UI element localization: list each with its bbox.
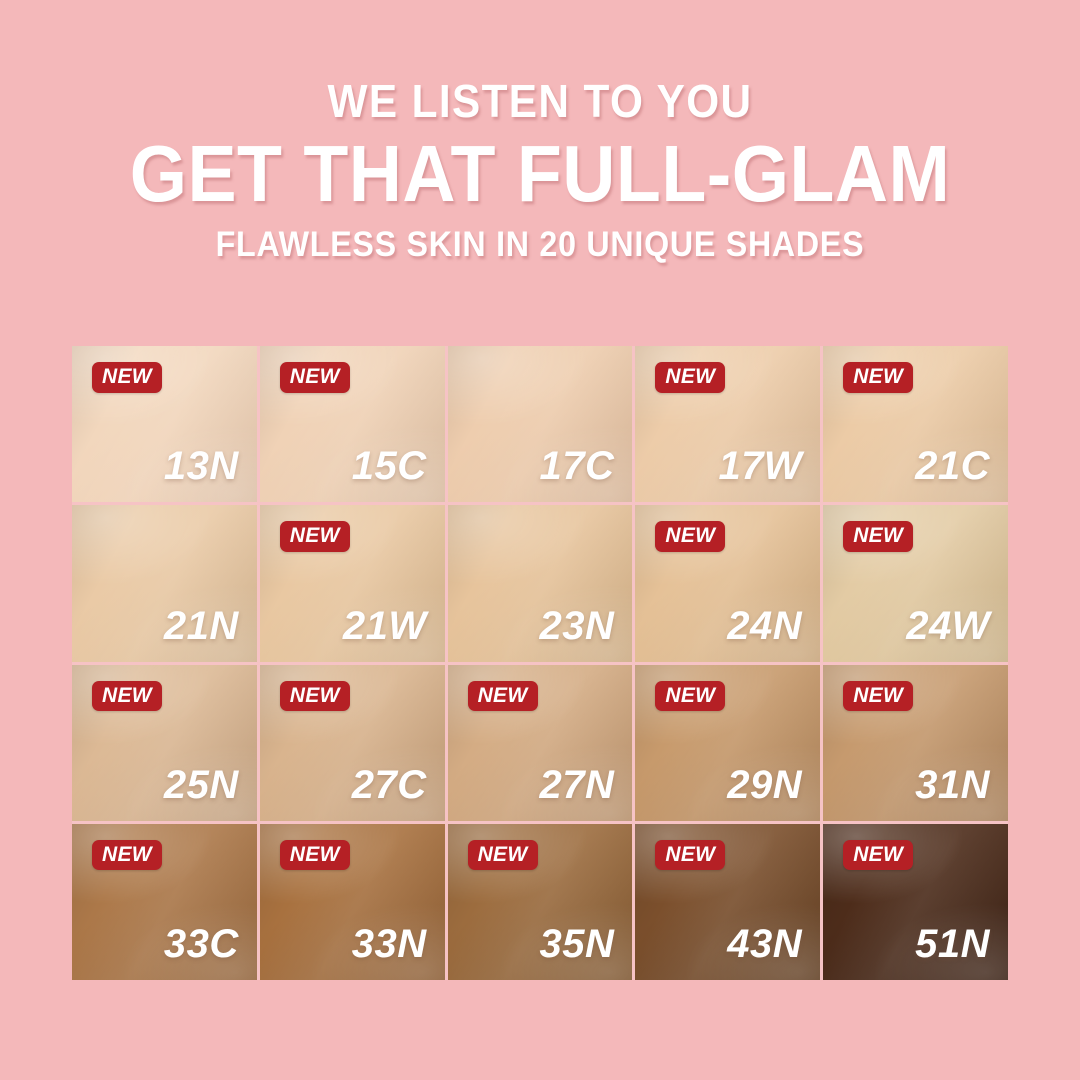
shade-swatch-21c[interactable]: NEW21C (823, 346, 1008, 502)
new-badge: NEW (655, 521, 725, 552)
shade-code-label: 31N (915, 765, 990, 805)
shade-swatch-25n[interactable]: NEW25N (72, 665, 257, 821)
shade-code-label: 13N (164, 446, 239, 486)
shade-swatch-grid: NEW13NNEW15C17CNEW17WNEW21C21NNEW21W23NN… (72, 346, 1008, 980)
shade-code-label: 29N (727, 765, 802, 805)
shade-swatch-51n[interactable]: NEW51N (823, 824, 1008, 980)
new-badge: NEW (280, 681, 350, 712)
shade-code-label: 21N (164, 606, 239, 646)
shade-swatch-13n[interactable]: NEW13N (72, 346, 257, 502)
new-badge: NEW (468, 681, 538, 712)
shade-code-label: 27N (540, 765, 615, 805)
shade-swatch-43n[interactable]: NEW43N (635, 824, 820, 980)
shade-code-label: 24N (727, 606, 802, 646)
shade-swatch-17w[interactable]: NEW17W (635, 346, 820, 502)
headline-eyebrow: WE LISTEN TO YOU (43, 78, 1037, 125)
headline-main: GET THAT FULL-GLAM (43, 133, 1037, 215)
new-badge: NEW (92, 681, 162, 712)
shade-code-label: 35N (540, 924, 615, 964)
new-badge: NEW (92, 840, 162, 871)
shade-swatch-33c[interactable]: NEW33C (72, 824, 257, 980)
new-badge: NEW (843, 681, 913, 712)
shade-swatch-17c[interactable]: 17C (448, 346, 633, 502)
new-badge: NEW (655, 840, 725, 871)
shade-swatch-21n[interactable]: 21N (72, 505, 257, 661)
shade-swatch-27c[interactable]: NEW27C (260, 665, 445, 821)
shade-code-label: 23N (540, 606, 615, 646)
shade-code-label: 24W (906, 606, 990, 646)
headline-block: WE LISTEN TO YOU GET THAT FULL-GLAM FLAW… (0, 78, 1080, 262)
shade-swatch-35n[interactable]: NEW35N (448, 824, 633, 980)
shade-swatch-33n[interactable]: NEW33N (260, 824, 445, 980)
shade-swatch-15c[interactable]: NEW15C (260, 346, 445, 502)
shade-code-label: 21W (343, 606, 427, 646)
new-badge: NEW (655, 362, 725, 393)
shade-code-label: 43N (727, 924, 802, 964)
shade-code-label: 33C (164, 924, 239, 964)
new-badge: NEW (92, 362, 162, 393)
new-badge: NEW (655, 681, 725, 712)
shade-code-label: 17W (718, 446, 802, 486)
new-badge: NEW (843, 840, 913, 871)
shade-code-label: 17C (540, 446, 615, 486)
shade-code-label: 21C (915, 446, 990, 486)
new-badge: NEW (280, 840, 350, 871)
shade-swatch-27n[interactable]: NEW27N (448, 665, 633, 821)
shade-code-label: 33N (352, 924, 427, 964)
new-badge: NEW (843, 362, 913, 393)
shade-swatch-24w[interactable]: NEW24W (823, 505, 1008, 661)
new-badge: NEW (468, 840, 538, 871)
new-badge: NEW (280, 362, 350, 393)
shade-swatch-23n[interactable]: 23N (448, 505, 633, 661)
poster-canvas: WE LISTEN TO YOU GET THAT FULL-GLAM FLAW… (0, 0, 1080, 1080)
headline-sub: FLAWLESS SKIN IN 20 UNIQUE SHADES (43, 227, 1037, 263)
shade-code-label: 15C (352, 446, 427, 486)
shade-swatch-31n[interactable]: NEW31N (823, 665, 1008, 821)
shade-code-label: 27C (352, 765, 427, 805)
shade-swatch-21w[interactable]: NEW21W (260, 505, 445, 661)
shade-code-label: 25N (164, 765, 239, 805)
shade-code-label: 51N (915, 924, 990, 964)
new-badge: NEW (843, 521, 913, 552)
new-badge: NEW (280, 521, 350, 552)
shade-swatch-29n[interactable]: NEW29N (635, 665, 820, 821)
shade-swatch-24n[interactable]: NEW24N (635, 505, 820, 661)
